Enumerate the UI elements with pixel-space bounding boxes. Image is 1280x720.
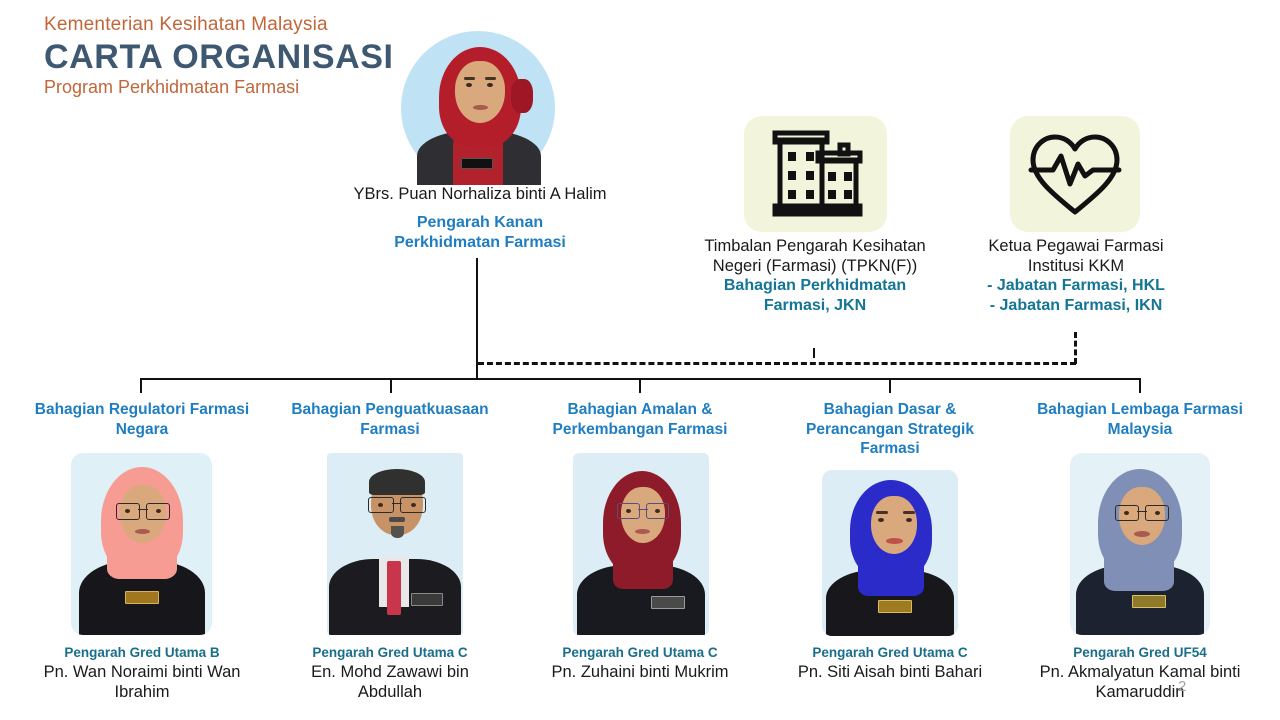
- page-title: CARTA ORGANISASI: [44, 38, 394, 76]
- division-2-person: Pengarah Gred Utama C En. Mohd Zawawi bi…: [270, 645, 510, 703]
- division-4-title: Bahagian Dasar & Perancangan Strategik F…: [770, 400, 1010, 459]
- division-3-grade: Pengarah Gred Utama C: [520, 645, 760, 661]
- heart-pulse-icon: [1023, 128, 1127, 220]
- avatar-division-5: [1070, 453, 1210, 635]
- connector-dashed-tick: [813, 348, 815, 358]
- heart-pulse-icon-card: [1010, 116, 1140, 232]
- division-1-name-line1: Pn. Wan Noraimi binti Wan: [18, 663, 266, 683]
- top-director-role-line1: Pengarah Kanan: [310, 213, 650, 233]
- division-3-title-line2: Perkembangan Farmasi: [520, 420, 760, 440]
- connector-drop-3: [639, 378, 641, 393]
- connector-top-stem: [476, 258, 478, 379]
- division-2-name-line2: Abdullah: [270, 683, 510, 703]
- division-1-title-line2: Negara: [18, 420, 266, 440]
- side-node-tpkn-text: Timbalan Pengarah Kesihatan Negeri (Farm…: [676, 236, 954, 315]
- connector-dashed-vertical: [1074, 332, 1077, 364]
- division-3-title: Bahagian Amalan & Perkembangan Farmasi: [520, 400, 760, 439]
- division-2-title: Bahagian Penguatkuasaan Farmasi: [270, 400, 510, 439]
- connector-drop-2: [390, 378, 392, 393]
- top-director-text: YBrs. Puan Norhaliza binti A Halim Penga…: [310, 184, 650, 252]
- division-2-title-line2: Farmasi: [270, 420, 510, 440]
- division-1-title: Bahagian Regulatori Farmasi Negara: [18, 400, 266, 439]
- division-4-title-line1: Bahagian Dasar &: [770, 400, 1010, 420]
- division-3-person: Pengarah Gred Utama C Pn. Zuhaini binti …: [520, 645, 760, 683]
- side-node-tpkn-title-line2: Negeri (Farmasi) (TPKN(F)): [676, 256, 954, 276]
- office-building-icon: [766, 128, 866, 220]
- division-4-title-line3: Farmasi: [770, 439, 1010, 459]
- division-1-person: Pengarah Gred Utama B Pn. Wan Noraimi bi…: [18, 645, 266, 703]
- connector-drop-4: [889, 378, 891, 393]
- division-1-name-line2: Ibrahim: [18, 683, 266, 703]
- avatar-top-director: [393, 27, 563, 185]
- side-node-tpkn-title-line1: Timbalan Pengarah Kesihatan: [676, 236, 954, 256]
- top-director-role-line2: Perkhidmatan Farmasi: [310, 233, 650, 253]
- division-5-title-line1: Bahagian Lembaga Farmasi: [1020, 400, 1260, 420]
- division-5-name-line1: Pn. Akmalyatun Kamal binti: [1020, 663, 1260, 683]
- connector-drop-1: [140, 378, 142, 393]
- side-node-kpf-title-line1: Ketua Pegawai Farmasi: [948, 236, 1204, 256]
- side-node-kpf-title-line2: Institusi KKM: [948, 256, 1204, 276]
- division-4-grade: Pengarah Gred Utama C: [770, 645, 1010, 661]
- division-4-person: Pengarah Gred Utama C Pn. Siti Aisah bin…: [770, 645, 1010, 683]
- division-3-name-line1: Pn. Zuhaini binti Mukrim: [520, 663, 760, 683]
- division-5-title-line2: Malaysia: [1020, 420, 1260, 440]
- side-node-tpkn-sub-line1: Bahagian Perkhidmatan: [676, 276, 954, 296]
- avatar-division-3: [573, 453, 709, 635]
- division-2-name-line1: En. Mohd Zawawi bin: [270, 663, 510, 683]
- division-1-title-line1: Bahagian Regulatori Farmasi: [18, 400, 266, 420]
- side-node-kpf-sub-line2: - Jabatan Farmasi, IKN: [948, 296, 1204, 316]
- header-block: Kementerian Kesihatan Malaysia CARTA ORG…: [44, 14, 394, 98]
- org-chart-slide: Kementerian Kesihatan Malaysia CARTA ORG…: [0, 0, 1280, 720]
- side-node-kpf-text: Ketua Pegawai Farmasi Institusi KKM - Ja…: [948, 236, 1204, 315]
- avatar-division-2: [327, 453, 463, 635]
- ministry-name: Kementerian Kesihatan Malaysia: [44, 14, 394, 36]
- avatar-division-1: [71, 453, 212, 635]
- division-1-grade: Pengarah Gred Utama B: [18, 645, 266, 661]
- connector-dashed-horizontal: [478, 362, 1076, 365]
- connector-drop-5: [1139, 378, 1141, 393]
- program-subtitle: Program Perkhidmatan Farmasi: [44, 77, 394, 98]
- division-4-name-line1: Pn. Siti Aisah binti Bahari: [770, 663, 1010, 683]
- division-2-title-line1: Bahagian Penguatkuasaan: [270, 400, 510, 420]
- side-node-kpf-sub-line1: - Jabatan Farmasi, HKL: [948, 276, 1204, 296]
- page-number: 2: [1178, 678, 1186, 695]
- office-building-icon-card: [744, 116, 887, 232]
- division-2-grade: Pengarah Gred Utama C: [270, 645, 510, 661]
- division-4-title-line2: Perancangan Strategik: [770, 420, 1010, 440]
- avatar-division-4: [822, 470, 958, 636]
- top-director-name: YBrs. Puan Norhaliza binti A Halim: [310, 184, 650, 204]
- division-3-title-line1: Bahagian Amalan &: [520, 400, 760, 420]
- division-5-title: Bahagian Lembaga Farmasi Malaysia: [1020, 400, 1260, 439]
- division-5-grade: Pengarah Gred UF54: [1020, 645, 1260, 661]
- division-5-person: Pengarah Gred UF54 Pn. Akmalyatun Kamal …: [1020, 645, 1260, 703]
- division-5-name-line2: Kamaruddin: [1020, 683, 1260, 703]
- side-node-tpkn-sub-line2: Farmasi, JKN: [676, 296, 954, 316]
